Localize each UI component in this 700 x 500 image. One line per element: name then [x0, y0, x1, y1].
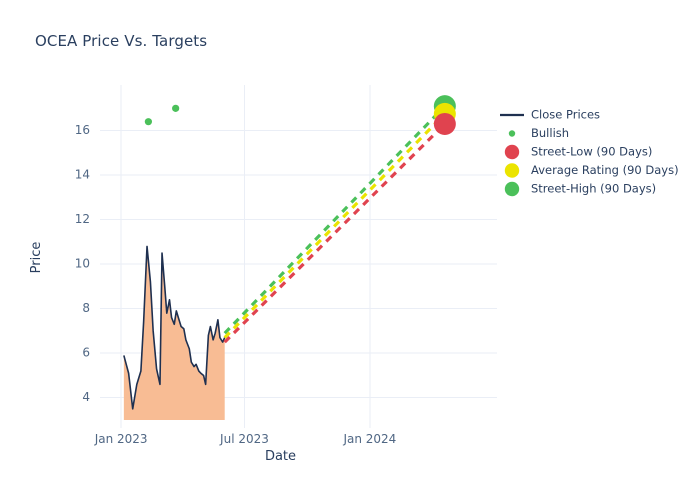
x-axis-title: Date [265, 449, 296, 464]
y-tick-label: 10 [75, 257, 90, 271]
legend-item-label[interactable]: Close Prices [531, 108, 600, 122]
bullish-dot [172, 105, 179, 112]
y-tick-label: 8 [82, 301, 90, 315]
x-tick-label: Jan 2024 [342, 432, 396, 446]
target-trend-lines [225, 106, 445, 342]
chart-legend: Close PricesBullishStreet-Low (90 Days)A… [500, 108, 679, 197]
legend-dot-swatch[interactable] [509, 130, 515, 136]
x-tick-label: Jul 2023 [219, 432, 269, 446]
y-tick-label: 12 [75, 212, 90, 226]
target-trend-line [225, 114, 445, 338]
y-tick-label: 16 [75, 123, 90, 137]
bullish-markers [145, 105, 179, 126]
bullish-dot [145, 118, 152, 125]
legend-dot-swatch[interactable] [505, 163, 519, 177]
target-trend-line [225, 124, 445, 342]
y-axis-title: Price [29, 242, 44, 274]
legend-item-label[interactable]: Street-Low (90 Days) [531, 145, 652, 159]
legend-item-label[interactable]: Average Rating (90 Days) [531, 163, 679, 177]
x-tick-label: Jan 2023 [94, 432, 148, 446]
price-vs-targets-chart: 46810121416 Jan 2023Jul 2023Jan 2024 Pri… [0, 0, 700, 500]
legend-item-label[interactable]: Bullish [531, 126, 569, 140]
y-axis-tick-labels: 46810121416 [75, 123, 90, 404]
chart-container: OCEA Price Vs. Targets 46810121416 Jan 2… [0, 0, 700, 500]
y-tick-label: 14 [75, 168, 90, 182]
y-tick-label: 4 [82, 390, 90, 404]
legend-item-label[interactable]: Street-High (90 Days) [531, 182, 656, 196]
target-marker [434, 113, 456, 135]
x-axis-tick-labels: Jan 2023Jul 2023Jan 2024 [94, 432, 397, 446]
legend-dot-swatch[interactable] [505, 145, 519, 159]
y-tick-label: 6 [82, 346, 90, 360]
legend-dot-swatch[interactable] [505, 182, 519, 196]
target-price-markers [434, 95, 456, 135]
